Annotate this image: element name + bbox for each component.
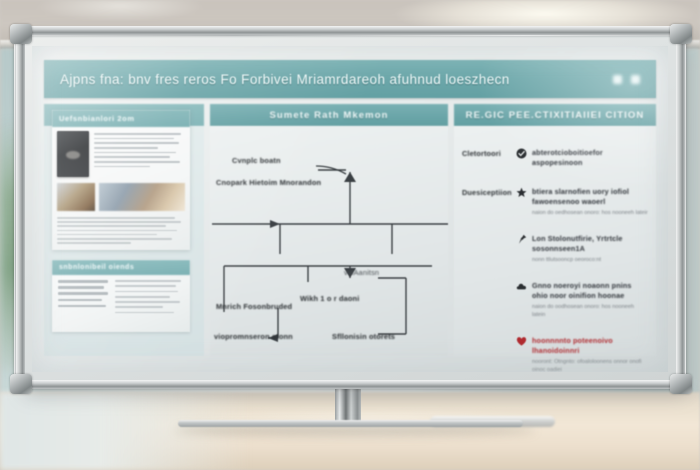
panel-left: Uefsnbianlori 2om Uefsnbianlori 2om — [44, 104, 204, 356]
photo-thumbnail-a-icon[interactable] — [57, 183, 95, 211]
check-circle-icon — [516, 148, 527, 159]
feature-subtitle: nooront: Otngnto: ofoaloloonens onnor on… — [532, 358, 648, 372]
list-item[interactable]: Lon Stolonutfirie, Yrtrtcle sosonnseen1A… — [462, 234, 648, 264]
list-card-columns — [52, 275, 190, 318]
panel-right: RE.GIC PEE.CTIXITIAIIEI CITION Cletortoo… — [454, 104, 656, 356]
document-text-lines — [94, 131, 185, 177]
window-controls[interactable] — [613, 75, 640, 84]
panel-middle-body: Cvnplc boatn Cnopark Hietoim Mnorandon v… — [210, 126, 448, 356]
panel-left-body: Uefsnbianlori 2om — [44, 126, 204, 356]
feature-title: Gnno noeroyi noaonn pnins ohio noor oini… — [532, 281, 648, 300]
feature-key: Duesiceptiion — [462, 187, 514, 197]
feature-key — [462, 336, 514, 337]
feature-body: Gnno noeroyi noaonn pnins ohio noor oini… — [532, 281, 648, 319]
list-item[interactable]: Cletortoori abterotcioboitioefor aspopes… — [462, 148, 648, 170]
frame-rail-bottom — [22, 380, 682, 389]
screen[interactable]: Ajpns fna: bnv fres reros Fo Forbivei Mr… — [32, 46, 668, 372]
list-item[interactable]: Gnno noeroyi noaonn pnins ohio noor oini… — [462, 281, 648, 319]
feature-title: btiera slarnofien uory iofiol fawoenseno… — [532, 187, 648, 206]
monitor-stand-base — [178, 420, 523, 427]
feature-body: Lon Stolonutfirie, Yrtrtcle sosonnseen1A… — [532, 234, 648, 264]
document-body-lines — [57, 217, 185, 244]
flow-node-n2[interactable]: Cnopark Hietoim Mnorandon — [216, 178, 321, 187]
window-dot-icon[interactable] — [613, 75, 622, 84]
monitor: Ajpns fna: bnv fres reros Fo Forbivei Mr… — [8, 26, 692, 392]
feature-body: abterotcioboitioefor aspopesinoon — [532, 148, 648, 170]
list-card-header: snbnlonibeil oiends — [52, 260, 190, 275]
document-photo-row — [57, 183, 185, 211]
book-cover-thumbnail-icon[interactable] — [57, 131, 89, 177]
feature-key — [462, 234, 514, 235]
list-left-column — [58, 280, 108, 313]
feature-body: hoonnnnto poteenoivo lhanoidoinnri nooro… — [532, 336, 648, 372]
window-title: Ajpns fna: bnv fres reros Fo Forbivei Mr… — [60, 72, 605, 87]
feature-key: Cletortoori — [462, 148, 514, 158]
feature-body: btiera slarnofien uory iofiol fawoenseno… — [532, 187, 648, 217]
frame-corner-bottom-right — [670, 374, 692, 394]
document-card-header: Uefsnbianlori 2om — [52, 110, 190, 127]
flow-node-n1[interactable]: Cvnplc boatn — [232, 156, 281, 165]
photo-thumbnail-b-icon[interactable] — [99, 183, 185, 211]
feature-subtitle: nonn ttlutsooncp oeoroco:nt — [532, 256, 648, 264]
window-title-bar: Ajpns fna: bnv fres reros Fo Forbivei Mr… — [44, 60, 656, 98]
feature-list: Cletortoori abterotcioboitioefor aspopes… — [454, 126, 656, 356]
panel-middle: Sumete Rath Mkemon — [210, 104, 448, 356]
star-icon — [516, 187, 527, 198]
flow-node-n7[interactable]: Sfllonisin otorets — [332, 332, 395, 341]
frame-corner-top-left — [10, 24, 32, 44]
feature-title: Lon Stolonutfirie, Yrtrtcle sosonnseen1A — [532, 234, 648, 253]
feature-title: abterotcioboitioefor aspopesinoon — [532, 148, 648, 167]
feature-key — [462, 281, 514, 282]
window-dot-icon[interactable] — [631, 75, 640, 84]
document-top-row — [57, 131, 185, 177]
list-right-column — [115, 280, 184, 313]
list-item[interactable]: Duesiceptiion btiera slarnofien uory iof… — [462, 187, 648, 217]
flowchart-diagram[interactable]: Cvnplc boatn Cnopark Hietoim Mnorandon v… — [210, 126, 448, 356]
feature-title: hoonnnnto poteenoivo lhanoidoinnri — [532, 336, 648, 355]
pin-icon — [516, 234, 527, 245]
frame-corner-top-right — [670, 24, 692, 44]
panels-row: Uefsnbianlori 2om Uefsnbianlori 2om — [44, 104, 656, 356]
cloud-icon — [516, 281, 527, 292]
panel-right-body: Cletortoori abterotcioboitioefor aspopes… — [454, 126, 656, 356]
heart-icon — [516, 336, 527, 347]
feature-subtitle: naion do oedhosean onoro: hos nooneeh la… — [532, 209, 648, 217]
frame-rail-top — [22, 26, 682, 35]
flow-node-n4[interactable]: Wikh 1 o r daoni — [300, 294, 359, 303]
list-item[interactable]: hoonnnnto poteenoivo lhanoidoinnri nooro… — [462, 336, 648, 372]
document-preview-card[interactable]: Uefsnbianlori 2om — [52, 110, 190, 250]
flow-node-n6[interactable]: viopromnseron stonn — [214, 332, 293, 341]
flow-node-n5[interactable]: Mnrich Fosonbruded — [216, 302, 292, 311]
frame-rail-left — [16, 32, 25, 386]
frame-rail-right — [676, 32, 685, 386]
flow-node-n3[interactable]: vviAanitsn — [344, 268, 379, 277]
list-preview-card[interactable]: snbnlonibeil oiends — [52, 260, 190, 332]
document-card-body — [52, 127, 190, 250]
feature-subtitle: naion do oodhosean onoro: hos nooneeh la… — [532, 303, 648, 319]
panel-right-header: RE.GIC PEE.CTIXITIAIIEI CITION — [454, 104, 656, 126]
frame-corner-bottom-left — [10, 374, 32, 394]
panel-middle-header: Sumete Rath Mkemon — [210, 104, 448, 126]
arrowhead — [268, 172, 356, 342]
